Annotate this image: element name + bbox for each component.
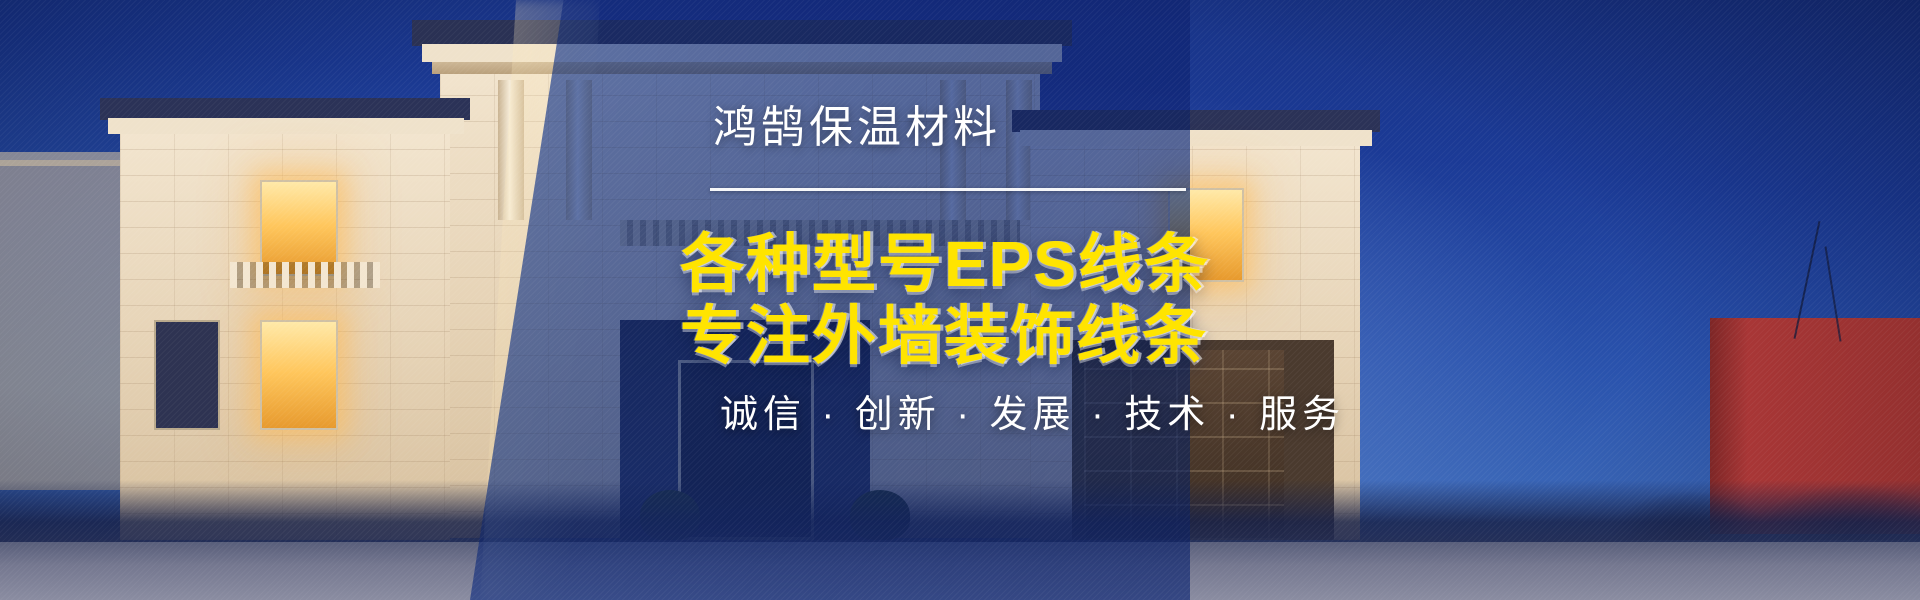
- headline-line-2: 专注外墙装饰线条: [680, 304, 1208, 368]
- banner-content: 鸿鹄保温材料 各种型号EPS线条 专注外墙装饰线条 诚信 · 创新 · 发展 ·…: [0, 0, 1920, 600]
- tagline: 诚信 · 创新 · 发展 · 技术 · 服务: [720, 396, 1345, 434]
- headline-line-1: 各种型号EPS线条: [680, 232, 1210, 296]
- hero-banner: 鸿鹄保温材料 各种型号EPS线条 专注外墙装饰线条 诚信 · 创新 · 发展 ·…: [0, 0, 1920, 600]
- brand-name: 鸿鹄保温材料: [713, 106, 1001, 150]
- title-divider: [710, 188, 1186, 191]
